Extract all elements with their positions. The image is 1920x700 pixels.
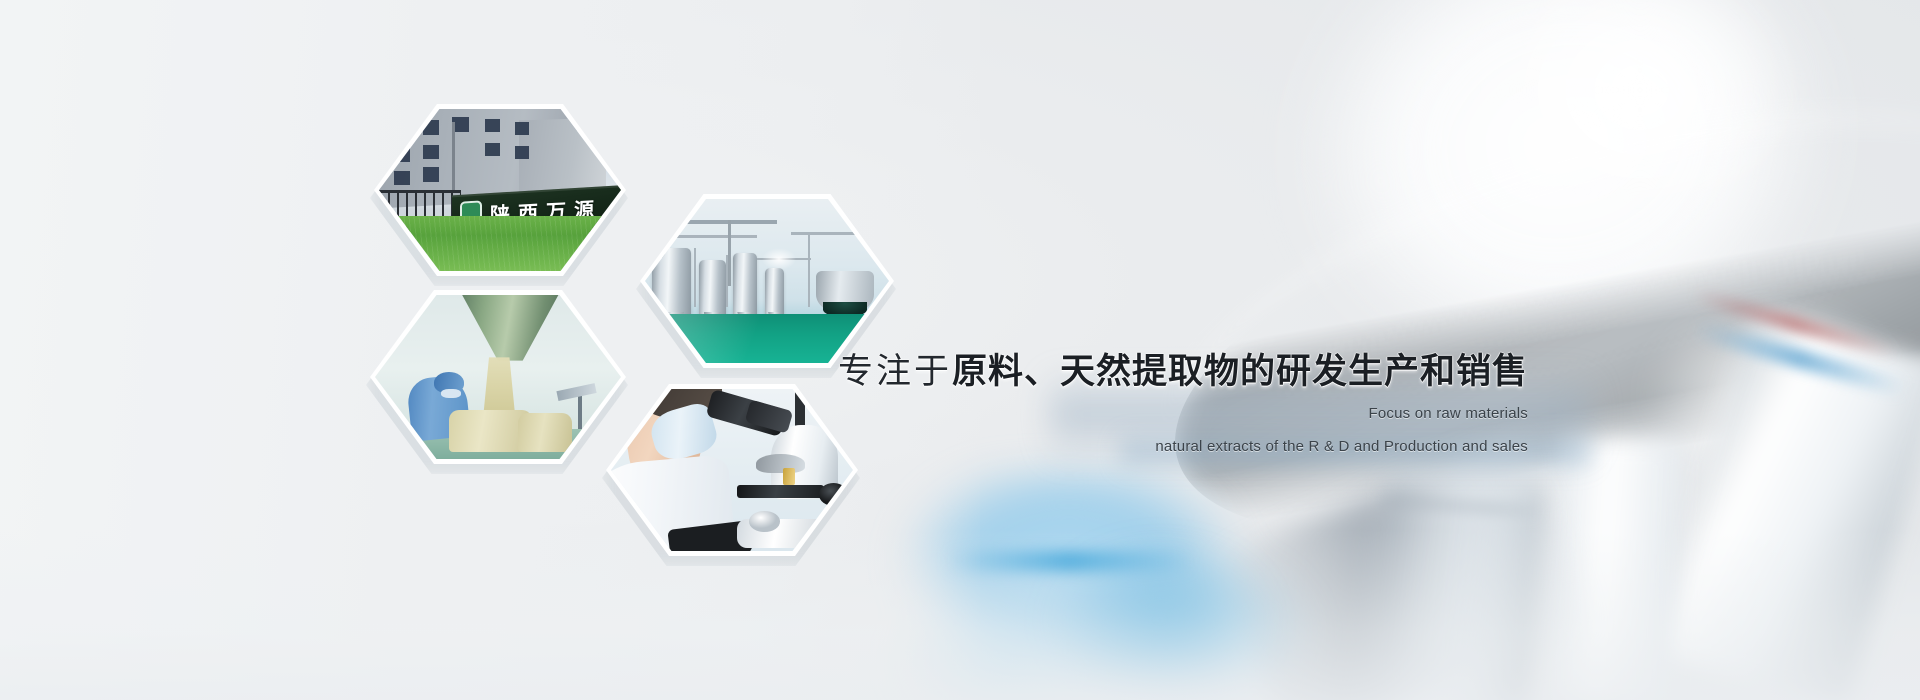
ceiling-lamp-glare (762, 248, 796, 270)
hero-subtitle-line-1: Focus on raw materials (838, 403, 1528, 426)
extraction-tank (699, 260, 726, 314)
hero-headline-lead: 专注于 (838, 352, 952, 392)
hexagon-photo-cluster: MAGI HERB 陕西万源 (0, 0, 980, 700)
process-pipe (694, 248, 696, 307)
microscope-objective (783, 468, 795, 484)
extraction-tank (733, 253, 757, 314)
building-window (485, 119, 500, 132)
light-pole (452, 122, 455, 190)
process-pipe (808, 235, 810, 307)
building-window (515, 146, 530, 159)
building-window (423, 145, 440, 160)
hero-headline-emphasis: 原料、天然提取物的研发生产和销售 (952, 352, 1528, 392)
platform-rail-lower (660, 235, 758, 238)
worker-face-mask (441, 389, 461, 399)
building-window (394, 171, 411, 186)
extraction-tank (652, 248, 691, 314)
building-window (394, 148, 411, 163)
building-window (485, 143, 500, 156)
process-pipe (726, 255, 728, 307)
hero-headline: 专注于原料、天然提取物的研发生产和销售 (838, 352, 1528, 393)
weighing-scale-post (578, 393, 582, 429)
hero-banner: MAGI HERB 陕西万源 (0, 0, 1920, 700)
platform-post-right (728, 220, 731, 286)
microscope-specimen-stage (737, 485, 824, 498)
extraction-tank (765, 268, 785, 314)
lawn-texture (379, 216, 621, 271)
hero-subtitle-line-2: natural extracts of the R & D and Produc… (838, 436, 1528, 459)
building-window (423, 167, 440, 182)
microscope-nosepiece (756, 454, 804, 473)
overhead-pipe (791, 232, 874, 235)
hero-text-block: 专注于原料、天然提取物的研发生产和销售 Focus on raw materia… (838, 352, 1528, 459)
microscope-coarse-focus (749, 511, 780, 532)
platform-rail-upper (660, 220, 777, 224)
collection-bag (518, 413, 572, 452)
building-window (394, 124, 411, 139)
building-window (423, 120, 440, 135)
building-window (515, 122, 530, 135)
